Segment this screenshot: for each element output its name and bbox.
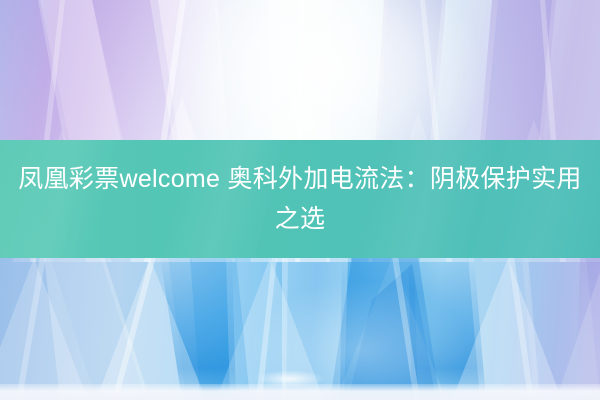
background-wash-bottom [0,256,600,400]
caption-band: 凤凰彩票welcome 奥科外加电流法：阴极保护实用之选 [0,140,600,258]
caption-text: 凤凰彩票welcome 奥科外加电流法：阴极保护实用之选 [0,159,600,239]
banner-image: 凤凰彩票welcome 奥科外加电流法：阴极保护实用之选 [0,0,600,400]
